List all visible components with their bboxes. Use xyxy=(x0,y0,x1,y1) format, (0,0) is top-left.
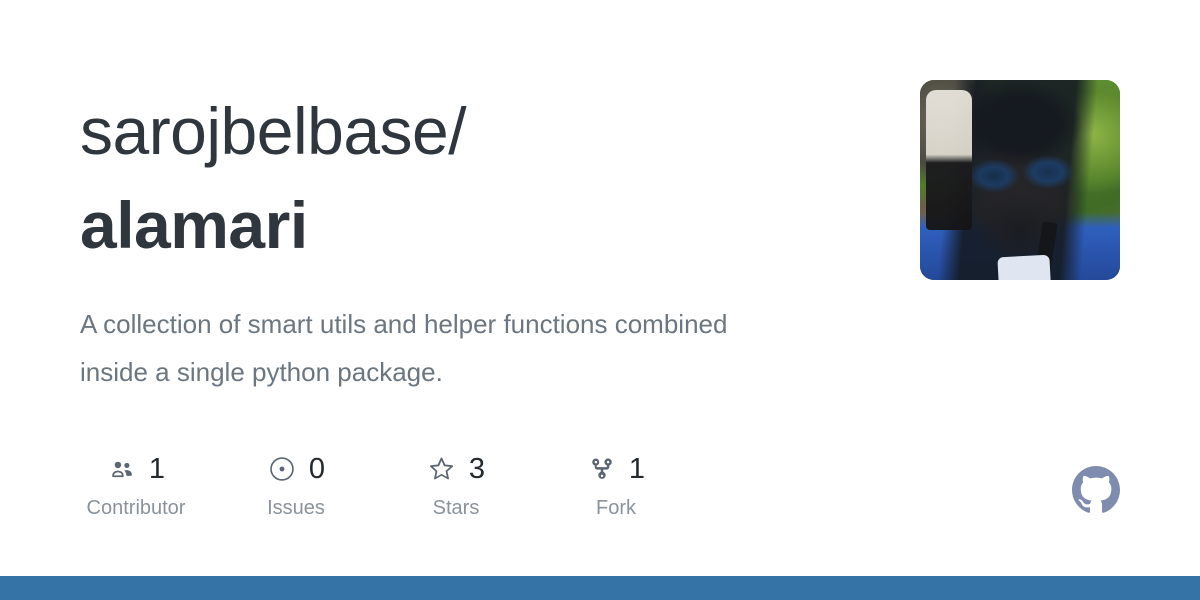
stat-forks: 1 Fork xyxy=(560,452,672,520)
stat-stars: 3 Stars xyxy=(400,452,512,520)
repo-owner: sarojbelbase/ xyxy=(80,94,466,168)
stat-issues-value: 0 xyxy=(309,454,325,484)
stat-issues: 0 Issues xyxy=(240,452,352,520)
stat-contributors-top: 1 xyxy=(107,452,165,486)
repo-stats: 1 Contributor 0 Issues xyxy=(80,452,672,520)
stat-contributors-value: 1 xyxy=(149,454,165,484)
page-title: sarojbelbase/ alamari xyxy=(80,84,840,272)
stat-stars-label: Stars xyxy=(433,496,480,520)
language-color-bar xyxy=(0,576,1200,600)
stat-forks-value: 1 xyxy=(629,454,645,484)
stat-forks-label: Fork xyxy=(596,496,636,520)
github-mark-icon xyxy=(1072,466,1120,514)
star-icon xyxy=(427,454,457,484)
repo-social-preview-card: sarojbelbase/ alamari A collection of sm… xyxy=(0,0,1200,600)
issue-opened-icon xyxy=(267,454,297,484)
stat-stars-value: 3 xyxy=(469,454,485,484)
owner-avatar xyxy=(920,80,1120,280)
repo-forked-icon xyxy=(587,454,617,484)
stat-issues-top: 0 xyxy=(267,452,325,486)
stat-stars-top: 3 xyxy=(427,452,485,486)
stat-forks-top: 1 xyxy=(587,452,645,486)
repo-description: A collection of smart utils and helper f… xyxy=(80,272,795,396)
repo-name: alamari xyxy=(80,178,840,272)
avatar-background-figure xyxy=(926,90,972,230)
repo-info: sarojbelbase/ alamari A collection of sm… xyxy=(80,84,840,396)
stat-contributors-label: Contributor xyxy=(87,496,186,520)
avatar-shirt-collar xyxy=(997,255,1050,280)
stat-contributors: 1 Contributor xyxy=(80,452,192,520)
stat-issues-label: Issues xyxy=(267,496,325,520)
people-icon xyxy=(107,454,137,484)
